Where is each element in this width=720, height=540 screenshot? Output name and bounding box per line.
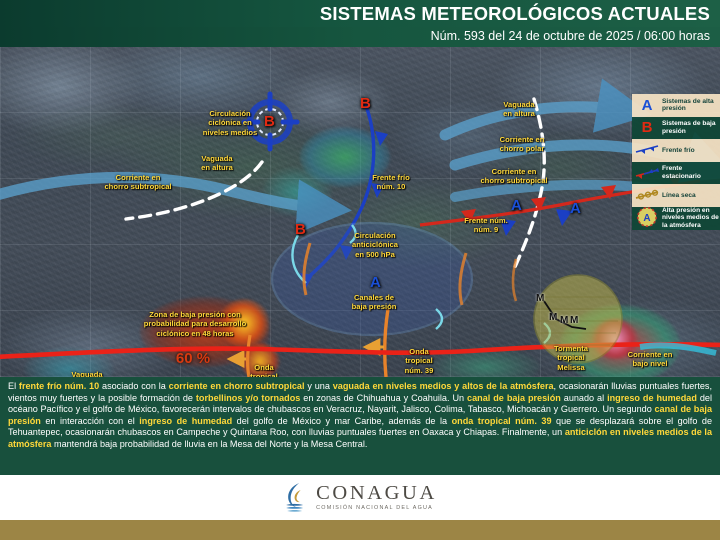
storm-track-marker: M: [536, 293, 544, 304]
subtropical-jet-west: [0, 177, 330, 209]
high-pressure-marker: A: [570, 200, 581, 217]
subheader-bar: Núm. 593 del 24 de octubre de 2025 / 06:…: [0, 27, 720, 47]
discussion-paragraph: El frente frío núm. 10 asociado con la c…: [8, 381, 712, 451]
highlighted-term: torbellinos y/o tornados: [196, 393, 300, 403]
highlighted-term: canal de baja presión: [8, 404, 712, 426]
footer-bar: CONAGUA COMISIÓN NACIONAL DEL AGUA: [0, 475, 720, 520]
orange-trough: [513, 259, 516, 301]
conagua-eagle-water-icon: [283, 481, 309, 513]
conagua-logo: CONAGUA COMISIÓN NACIONAL DEL AGUA: [283, 481, 437, 513]
low-pressure-marker: B: [360, 95, 371, 112]
legend-label: Línea seca: [660, 192, 696, 200]
stationary-front-icon: [634, 166, 660, 181]
highlighted-term: corriente en chorro subtropical: [169, 381, 305, 391]
cold-front-barb: [371, 183, 384, 198]
highlighted-term: anticiclón en niveles medios de la atmós…: [8, 427, 712, 449]
low-pressure-marker: B: [295, 221, 306, 238]
legend-item-high-pressure[interactable]: A Sistemas de alta presión: [632, 94, 720, 117]
storm-track-marker: M: [570, 315, 578, 326]
header-bar: SISTEMAS METEOROLÓGICOS ACTUALES: [0, 0, 720, 27]
low-pressure-marker: B: [264, 113, 275, 130]
highlighted-term: ingreso de humedad: [139, 416, 232, 426]
svg-text:A: A: [643, 213, 650, 224]
discussion-text: El frente frío núm. 10 asociado con la c…: [0, 377, 720, 475]
legend-item-low-pressure[interactable]: B Sistemas de baja presión: [632, 117, 720, 140]
highlighted-term: frente frío núm. 10: [19, 381, 99, 391]
legend-item-cold-front[interactable]: Frente frío: [632, 139, 720, 162]
legend-label: Sistemas de baja presión: [660, 120, 720, 135]
letter-B-icon: B: [634, 119, 660, 136]
highlighted-term: onda tropical núm. 39: [452, 416, 552, 426]
tropical-wave-39-line: [385, 309, 388, 377]
mid-level-high-icon: A: [634, 206, 660, 230]
legend-label: Sistemas de alta presión: [660, 98, 720, 113]
letter-A-icon: A: [634, 97, 660, 114]
org-name: CONAGUA: [316, 483, 437, 504]
highlighted-term: vaguada en niveles medios y altos de la …: [333, 381, 554, 391]
dry-line-icon: [634, 189, 660, 203]
tropical-wave-line: [248, 335, 250, 377]
cold-front-icon: [634, 143, 660, 157]
map-legend: A Sistemas de alta presión B Sistemas de…: [632, 94, 720, 230]
cold-front-barb: [375, 131, 388, 146]
legend-label: Alta presión en niveles medios de la atm…: [660, 207, 720, 230]
conagua-logo-text: CONAGUA COMISIÓN NACIONAL DEL AGUA: [316, 483, 437, 511]
bulletin-number-date: Núm. 593 del 24 de octubre de 2025 / 06:…: [431, 29, 710, 43]
cold-front-barb: [500, 219, 516, 236]
storm-track-marker: M: [560, 315, 568, 326]
high-pressure-marker: A: [511, 197, 522, 214]
legend-item-dry-line[interactable]: Línea seca: [632, 184, 720, 207]
legend-label: Frente estacionario: [660, 165, 720, 180]
org-subtitle: COMISIÓN NACIONAL DEL AGUA: [316, 506, 437, 511]
gold-accent-bar: [0, 520, 720, 540]
highlighted-term: ingreso de humedad: [607, 393, 697, 403]
legend-item-stationary-front[interactable]: Frente estacionario: [632, 162, 720, 185]
high-pressure-marker: A: [370, 274, 381, 291]
weather-bulletin-page: SISTEMAS METEOROLÓGICOS ACTUALES Núm. 59…: [0, 0, 720, 540]
satellite-map[interactable]: B B B A A A M M M M Circulación ciclónic…: [0, 47, 720, 377]
legend-item-mid-level-high[interactable]: A Alta presión en niveles medios de la a…: [632, 207, 720, 230]
legend-label: Frente frío: [660, 147, 695, 155]
highlighted-term: canal de baja presión: [467, 393, 561, 403]
storm-track-marker: M: [549, 312, 557, 323]
page-title: SISTEMAS METEOROLÓGICOS ACTUALES: [320, 3, 710, 25]
